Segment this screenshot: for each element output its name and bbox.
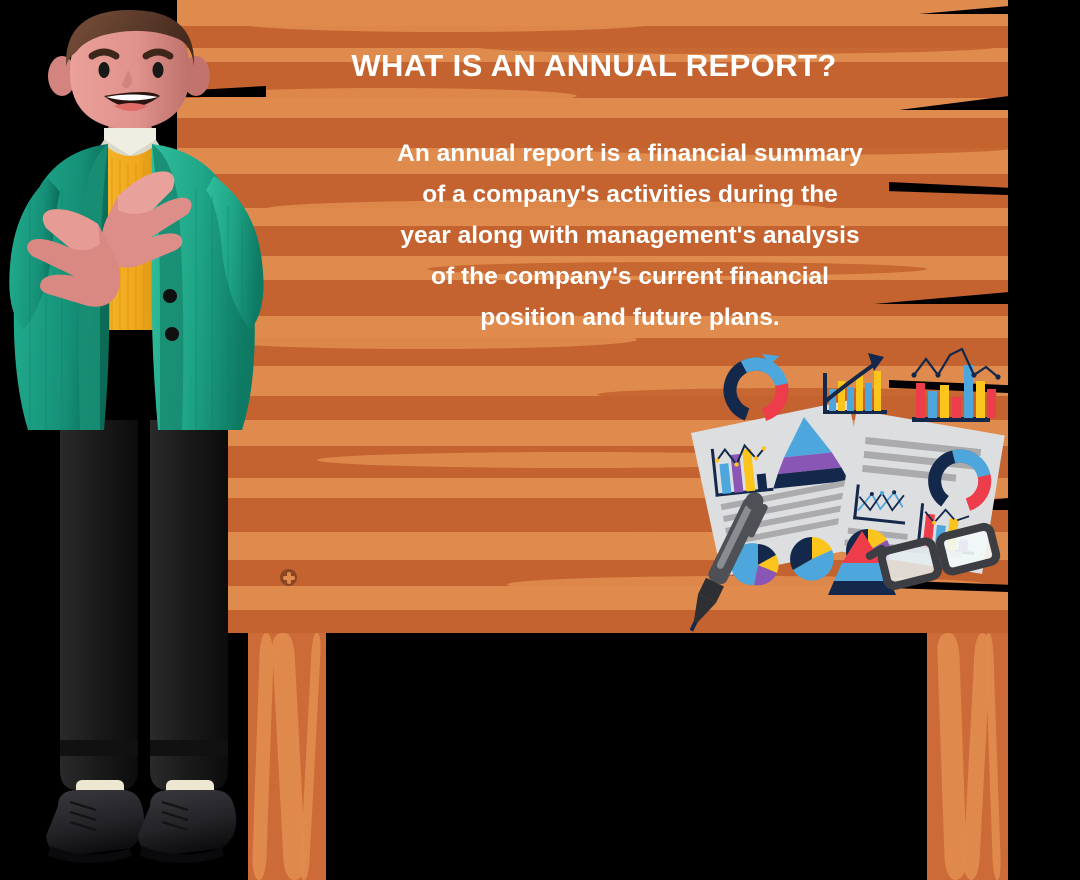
financial-report-illustration (690, 345, 1020, 635)
description-line: year along with management's analysis (280, 215, 980, 256)
bar-chart-arrow-up (823, 353, 887, 414)
wood-grain (300, 633, 322, 880)
wood-grain (237, 516, 707, 531)
wood-grain (985, 633, 1002, 880)
poster-canvas: WHAT IS AN ANNUAL REPORT? An annual repo… (0, 0, 1080, 880)
signboard-post-right (927, 633, 1008, 880)
character-illustration (0, 0, 300, 880)
character-legs (60, 420, 228, 790)
description-line: of a company's activities during the (280, 174, 980, 215)
wood-grain (237, 14, 657, 32)
bar-line-chart-top-right (911, 349, 1000, 422)
pie-chart-2 (790, 537, 834, 581)
description-line: An annual report is a financial summary (280, 133, 980, 174)
wood-grain (937, 633, 968, 880)
description-line: of the company's current financial (280, 256, 980, 297)
cardigan-button (163, 289, 177, 303)
cardigan-button (165, 327, 179, 341)
page-title: WHAT IS AN ANNUAL REPORT? (177, 48, 1008, 84)
character-shoes (46, 790, 236, 863)
description-line: position and future plans. (280, 297, 980, 338)
page-description: An annual report is a financial summary … (280, 133, 980, 338)
